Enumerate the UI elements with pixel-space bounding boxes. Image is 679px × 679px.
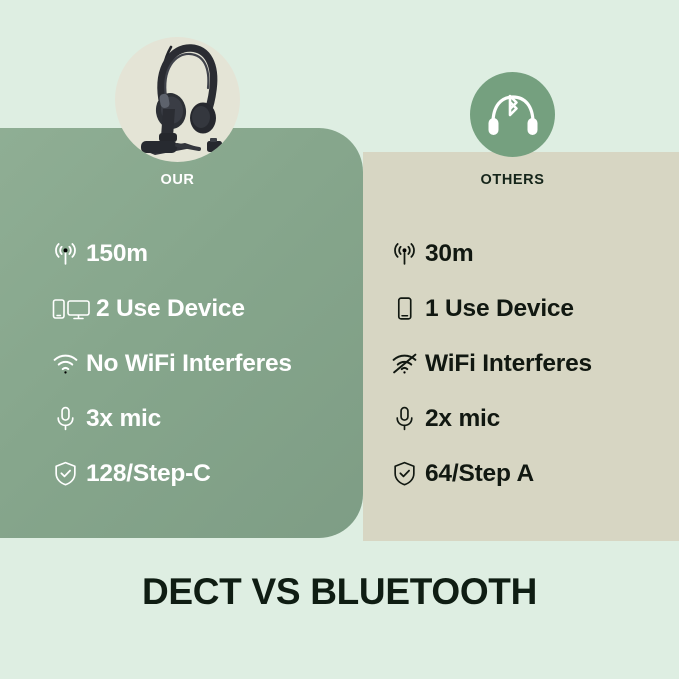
others-column-label: OTHERS xyxy=(450,172,575,188)
shield-check-icon xyxy=(391,457,425,491)
feature-row: 30m xyxy=(391,226,671,281)
wireless-headset-with-charging-stand-and-usb-dongle-icon xyxy=(115,37,240,162)
feature-row: 150m xyxy=(52,226,352,281)
others-feature-list: 30m 1 Use Device WiFi Int xyxy=(391,226,671,501)
feature-row: 2 Use Device xyxy=(52,281,352,336)
our-feature-list: 150m 2 Use Device xyxy=(52,226,352,501)
feature-row: 128/Step-C xyxy=(52,446,352,501)
feature-row: WiFi Interferes xyxy=(391,336,671,391)
shield-check-icon xyxy=(52,457,86,491)
feature-text: 30m xyxy=(425,240,473,268)
feature-text: 150m xyxy=(86,240,148,268)
page-title: DECT VS BLUETOOTH xyxy=(0,571,679,613)
feature-row: 2x mic xyxy=(391,391,671,446)
comparison-infographic: OUR OTHERS 150m xyxy=(0,0,679,679)
microphone-icon xyxy=(52,402,86,436)
phone-and-monitor-icon xyxy=(52,292,96,326)
phone-icon xyxy=(391,292,425,326)
feature-row: No WiFi Interferes xyxy=(52,336,352,391)
wifi-icon xyxy=(52,347,86,381)
feature-row: 3x mic xyxy=(52,391,352,446)
our-column-label: OUR xyxy=(115,172,240,188)
feature-text: 2x mic xyxy=(425,405,500,433)
headphones-bluetooth-icon xyxy=(485,90,541,140)
feature-text: 3x mic xyxy=(86,405,161,433)
feature-text: WiFi Interferes xyxy=(425,350,592,378)
feature-text: No WiFi Interferes xyxy=(86,350,292,378)
others-product-circle xyxy=(470,72,555,157)
feature-text: 64/Step A xyxy=(425,460,534,488)
feature-text: 2 Use Device xyxy=(96,295,245,323)
signal-tower-icon xyxy=(52,237,86,271)
our-product-circle xyxy=(115,37,240,162)
signal-tower-icon xyxy=(391,237,425,271)
feature-row: 1 Use Device xyxy=(391,281,671,336)
feature-text: 128/Step-C xyxy=(86,460,211,488)
feature-row: 64/Step A xyxy=(391,446,671,501)
wifi-off-icon xyxy=(391,347,425,381)
microphone-icon xyxy=(391,402,425,436)
feature-text: 1 Use Device xyxy=(425,295,574,323)
